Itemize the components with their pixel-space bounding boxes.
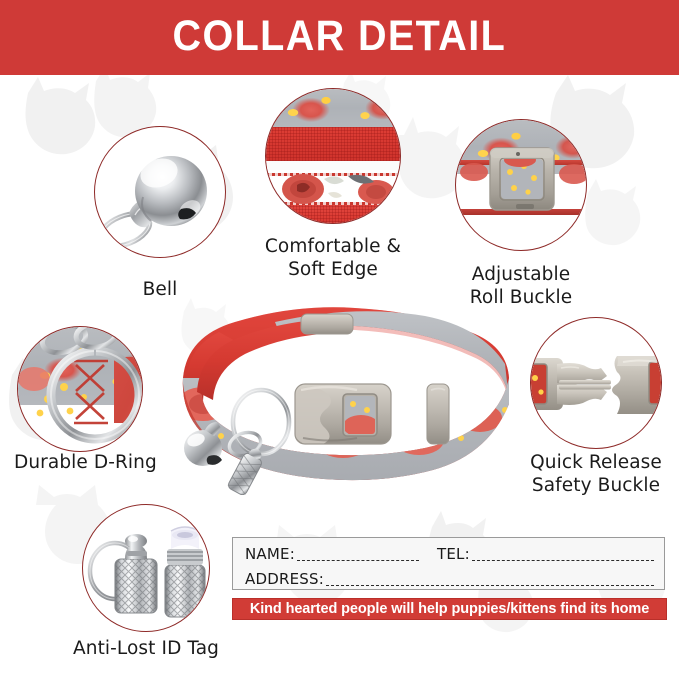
info-row-address: ADDRESS:: [245, 570, 654, 588]
bell-photo: [95, 127, 225, 257]
feature-circle-soft-edge: [265, 88, 401, 224]
feature-circle-roll-buckle: [455, 119, 587, 251]
pet-info-card: NAME: TEL: ADDRESS:: [232, 537, 665, 590]
feature-caption-quick-release: Quick Release Safety Buckle: [512, 452, 679, 497]
info-row-name-tel: NAME: TEL:: [245, 545, 654, 563]
d-ring-photo: [18, 327, 142, 451]
feature-caption-id-tag: Anti-Lost ID Tag: [46, 638, 246, 661]
feature-circle-id-tag: [82, 504, 210, 632]
tel-label: TEL:: [419, 545, 472, 563]
info-banner: Kind hearted people will help puppies/ki…: [232, 598, 667, 620]
feature-circle-bell: [94, 126, 226, 258]
feature-caption-bell: Bell: [110, 279, 210, 302]
page-header: COLLAR DETAIL: [0, 0, 679, 75]
product-photo: [175, 300, 515, 495]
tel-input[interactable]: [472, 547, 654, 561]
feature-circle-quick-release: [530, 317, 662, 449]
quick-release-buckle-photo: [531, 318, 661, 448]
infographic-page: COLLAR DETAIL: [0, 0, 679, 679]
id-tag-photo: [83, 505, 209, 631]
feature-circle-d-ring: [17, 326, 143, 452]
address-label: ADDRESS:: [245, 570, 326, 588]
roll-buckle-photo: [456, 120, 586, 250]
address-input[interactable]: [326, 572, 654, 586]
page-title: COLLAR DETAIL: [173, 12, 507, 61]
name-input[interactable]: [297, 547, 419, 561]
name-label: NAME:: [245, 545, 297, 563]
collar-edge-photo: [266, 89, 400, 223]
feature-caption-soft-edge: Comfortable & Soft Edge: [253, 236, 413, 281]
